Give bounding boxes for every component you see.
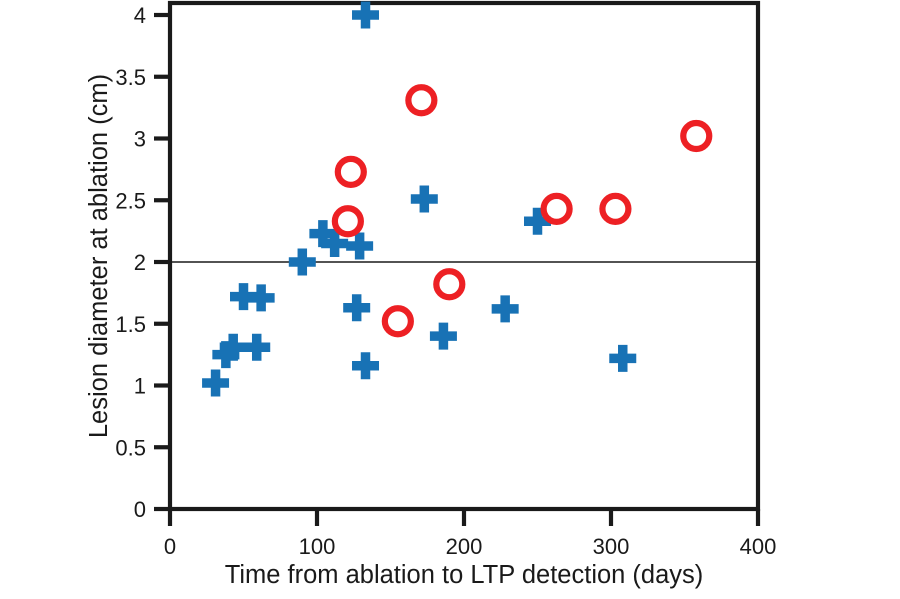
y-tick-label: 2.5 bbox=[115, 188, 146, 213]
x-tick-label: 300 bbox=[593, 534, 630, 559]
y-tick-label: 0 bbox=[134, 497, 146, 522]
x-tick-label: 0 bbox=[164, 534, 176, 559]
y-tick-label: 0.5 bbox=[115, 435, 146, 460]
y-tick-label: 1.5 bbox=[115, 312, 146, 337]
x-axis-title: Time from ablation to LTP detection (day… bbox=[225, 561, 704, 589]
x-tick-label: 400 bbox=[740, 534, 777, 559]
x-tick-label: 200 bbox=[446, 534, 483, 559]
y-tick-label: 3.5 bbox=[115, 65, 146, 90]
y-tick-label: 2 bbox=[134, 250, 146, 275]
y-axis-title: Lesion diameter at ablation (cm) bbox=[85, 74, 113, 438]
y-tick-label: 1 bbox=[134, 374, 146, 399]
y-tick-label: 4 bbox=[134, 3, 146, 28]
scatter-chart-figure: 00.511.522.533.54 0100200300400 Time fro… bbox=[0, 0, 900, 599]
x-tick-label: 100 bbox=[299, 534, 336, 559]
y-tick-label: 3 bbox=[134, 127, 146, 152]
